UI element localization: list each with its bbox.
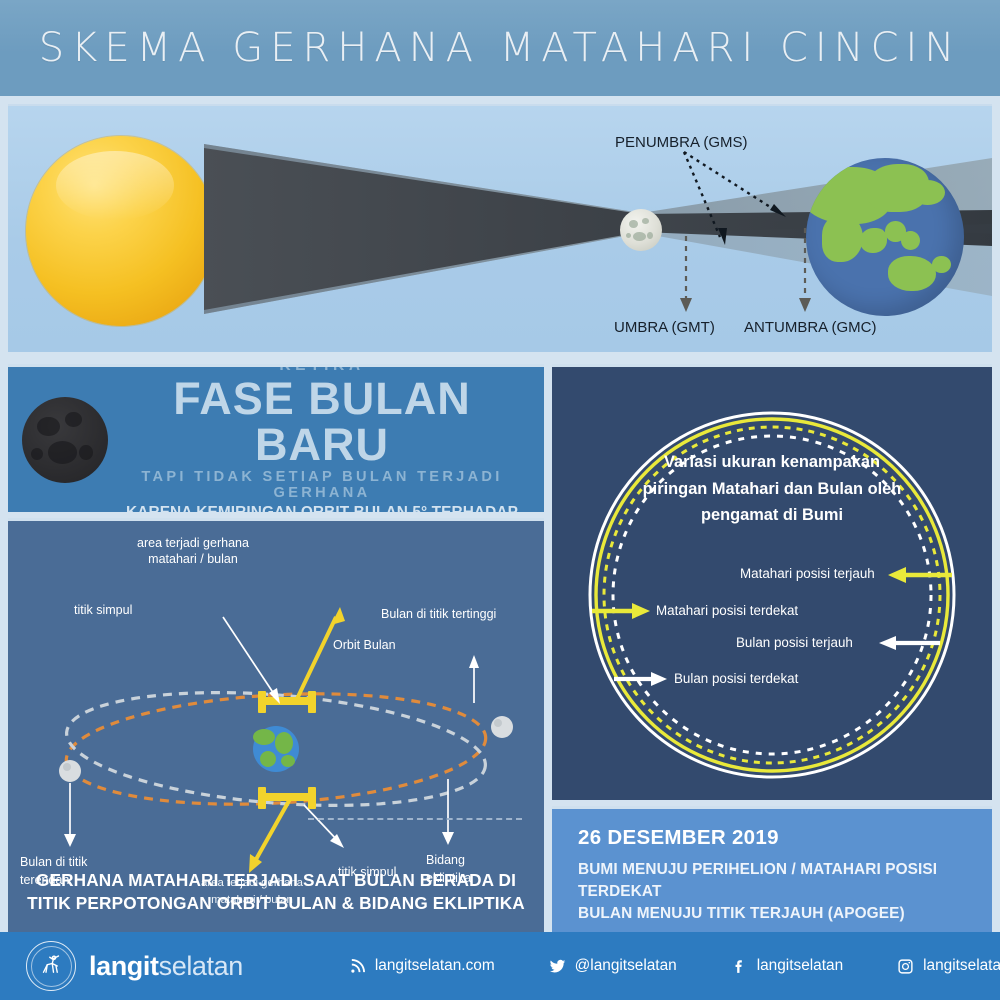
new-moon-headline: FASE BULAN BARU — [112, 376, 532, 468]
apparent-size-title: Variasi ukuran kenampakan piringan Matah… — [552, 449, 992, 529]
label-moon-farthest: Bulan posisi terjauh — [736, 635, 853, 650]
event-date-panel: 26 DESEMBER 2019 BUMI MENUJU PERIHELION … — [552, 806, 992, 932]
social-link-website[interactable]: langitselatan.com — [349, 957, 495, 975]
page-footer: langitselatan langitselatan.com @langits… — [0, 932, 1000, 1000]
label-moon-nearest: Bulan posisi terdekat — [674, 671, 798, 686]
apparent-size-rings-graphic — [552, 367, 992, 800]
langitselatan-logo-icon[interactable] — [26, 941, 76, 991]
new-moon-subline: TAPI TIDAK SETIAP BULAN TERJADI GERHANA — [112, 469, 532, 501]
social-link-twitter[interactable]: @langitselatan — [549, 957, 677, 975]
apparent-size-title-l2: piringan Matahari dan Bulan oleh — [622, 476, 922, 503]
label-moon-highest: Bulan di titik tertinggi — [381, 607, 496, 623]
social-link-instagram[interactable]: langitselatanmedia — [897, 957, 1000, 975]
label-orbit-moon: Orbit Bulan — [333, 638, 396, 654]
apparent-size-panel: Variasi ukuran kenampakan piringan Matah… — [552, 364, 992, 800]
label-sun-farthest: Matahari posisi terjauh — [740, 566, 875, 581]
social-link-facebook[interactable]: langitselatan — [731, 957, 843, 975]
label-eclipse-area-top-l2: matahari / bulan — [100, 551, 286, 567]
page-title: SKEMA GERHANA MATAHARI CINCIN — [39, 25, 962, 71]
rss-icon — [349, 958, 366, 975]
twitter-icon — [549, 958, 566, 975]
centaur-glyph-icon — [36, 951, 66, 981]
eclipse-schematic-panel: PENUMBRA (GMS) UMBRA (GMT) ANTUMBRA (GMC… — [8, 104, 992, 352]
new-moon-note: KARENA KEMIRINGAN ORBIT BULAN 5° TERHADA… — [112, 504, 532, 512]
penumbra-leader-arrows — [8, 106, 992, 352]
label-eclipse-area-top: area terjadi gerhana matahari / bulan — [100, 535, 286, 568]
langitselatan-wordmark: langitselatan — [89, 951, 243, 982]
social-label-website: langitselatan.com — [375, 957, 495, 975]
brand-bold: langit — [89, 951, 159, 981]
new-moon-text-block: GERHANA MATAHARI TERJADI KETIKA FASE BUL… — [108, 364, 544, 512]
new-moon-icon — [22, 397, 108, 483]
apparent-size-title-l1: Variasi ukuran kenampakan — [622, 449, 922, 476]
page-header: SKEMA GERHANA MATAHARI CINCIN — [0, 0, 1000, 96]
infographic-page: SKEMA GERHANA MATAHARI CINCIN — [0, 0, 1000, 1000]
social-links: langitselatan.com @langitselatan langits… — [349, 957, 1000, 975]
social-label-facebook: langitselatan — [757, 957, 843, 975]
social-label-instagram: langitselatanmedia — [923, 957, 1000, 975]
brand-light: selatan — [159, 951, 243, 981]
orbit-conclusion-l2: TITIK PERPOTONGAN ORBIT BULAN & BIDANG E… — [8, 892, 544, 916]
instagram-icon — [897, 958, 914, 975]
label-ecliptic-plane-l1: Bidang — [426, 851, 471, 869]
facebook-icon — [731, 958, 748, 975]
orbit-diagram-panel: area terjadi gerhana matahari / bulan ti… — [8, 518, 544, 932]
label-sun-nearest: Matahari posisi terdekat — [656, 603, 798, 618]
orbit-conclusion-l1: GERHANA MATAHARI TERJADI SAAT BULAN BERA… — [8, 869, 544, 893]
new-moon-panel: GERHANA MATAHARI TERJADI KETIKA FASE BUL… — [8, 364, 544, 512]
orbit-divider — [308, 818, 522, 820]
orbit-conclusion: GERHANA MATAHARI TERJADI SAAT BULAN BERA… — [8, 869, 544, 916]
label-eclipse-area-top-l1: area terjadi gerhana — [100, 535, 286, 551]
social-label-twitter: @langitselatan — [575, 957, 677, 975]
label-node-top: titik simpul — [74, 603, 132, 619]
apparent-size-title-l3: pengamat di Bumi — [622, 502, 922, 529]
event-date-line-1: BUMI MENUJU PERIHELION / MATAHARI POSISI… — [578, 859, 992, 903]
event-date-heading: 26 DESEMBER 2019 — [578, 826, 992, 850]
event-date-line-2: BULAN MENUJU TITIK TERJAUH (APOGEE) — [578, 903, 992, 925]
